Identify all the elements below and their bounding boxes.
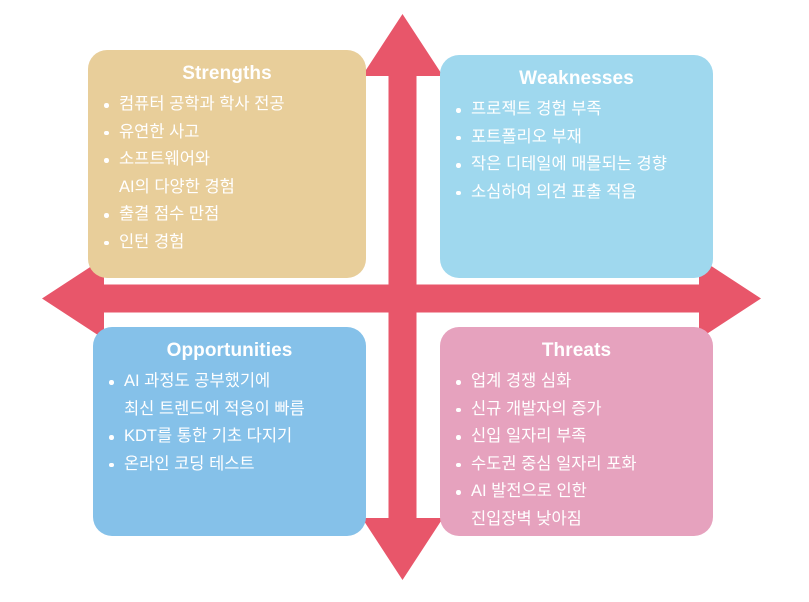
list-item: 소심하여 의견 표출 적음 <box>440 179 713 207</box>
list-item: 업계 경쟁 심화 <box>440 368 713 396</box>
list-item: 프로젝트 경험 부족 <box>440 96 713 124</box>
list-item: 신입 일자리 부족 <box>440 423 713 451</box>
list-item: 출결 점수 만점 <box>88 201 366 229</box>
quadrant-weaknesses-list: 프로젝트 경험 부족 포트폴리오 부재 작은 디테일에 매몰되는 경향 소심하여… <box>440 90 713 206</box>
list-item: AI 발전으로 인한 진입장벽 낮아짐 <box>440 478 713 533</box>
arrow-up-icon <box>362 14 443 287</box>
list-item: 작은 디테일에 매몰되는 경향 <box>440 151 713 179</box>
quadrant-opportunities-title: Opportunities <box>93 327 366 362</box>
quadrant-opportunities-list: AI 과정도 공부했기에 최신 트렌드에 적응이 빠름 KDT를 통한 기초 다… <box>93 362 366 478</box>
quadrant-strengths-title: Strengths <box>88 50 366 85</box>
list-item: AI 과정도 공부했기에 최신 트렌드에 적응이 빠름 <box>93 368 366 423</box>
list-item: 신규 개발자의 증가 <box>440 396 713 424</box>
swot-diagram: Strengths 컴퓨터 공학과 학사 전공 유연한 사고 소프트웨어와 AI… <box>0 0 809 602</box>
list-item: KDT를 통한 기초 다지기 <box>93 423 366 451</box>
list-item: 수도권 중심 일자리 포화 <box>440 451 713 479</box>
quadrant-weaknesses: Weaknesses 프로젝트 경험 부족 포트폴리오 부재 작은 디테일에 매… <box>440 55 713 278</box>
list-item: 소프트웨어와 AI의 다양한 경험 <box>88 146 366 201</box>
arrow-center-hub <box>389 285 417 313</box>
list-item: 온라인 코딩 테스트 <box>93 451 366 479</box>
quadrant-strengths: Strengths 컴퓨터 공학과 학사 전공 유연한 사고 소프트웨어와 AI… <box>88 50 366 278</box>
quadrant-threats-title: Threats <box>440 327 713 362</box>
quadrant-threats-list: 업계 경쟁 심화 신규 개발자의 증가 신입 일자리 부족 수도권 중심 일자리… <box>440 362 713 533</box>
list-item: 유연한 사고 <box>88 119 366 147</box>
quadrant-threats: Threats 업계 경쟁 심화 신규 개발자의 증가 신입 일자리 부족 수도… <box>440 327 713 536</box>
arrow-down-icon <box>362 310 443 580</box>
list-item: 포트폴리오 부재 <box>440 124 713 152</box>
list-item: 컴퓨터 공학과 학사 전공 <box>88 91 366 119</box>
quadrant-weaknesses-title: Weaknesses <box>440 55 713 90</box>
list-item: 인턴 경험 <box>88 229 366 257</box>
quadrant-opportunities: Opportunities AI 과정도 공부했기에 최신 트렌드에 적응이 빠… <box>93 327 366 536</box>
quadrant-strengths-list: 컴퓨터 공학과 학사 전공 유연한 사고 소프트웨어와 AI의 다양한 경험 출… <box>88 85 366 256</box>
